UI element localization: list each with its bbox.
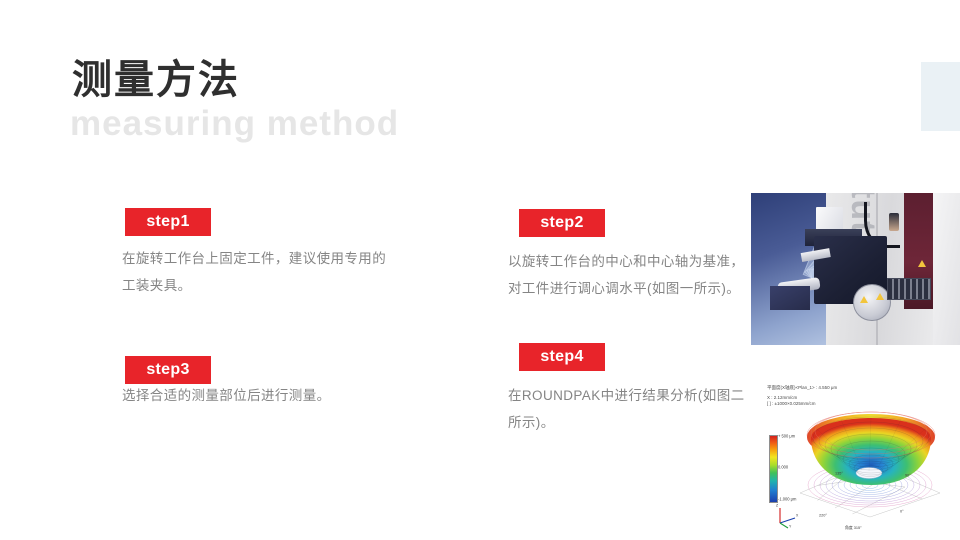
- chart-surface-bowl: [801, 411, 941, 499]
- chart-colorbar: [769, 435, 778, 503]
- surface-chart: 平面度(X轴底)<Plan_1> : 4.550 μm X : 2.12mm/c…: [757, 383, 957, 538]
- chart-axis-label-3: 角度 315°: [845, 524, 862, 530]
- colorbar-mid-label: 0.000: [778, 465, 788, 470]
- step-text-2: 以旋转工作台的中心和中心轴为基准，对工件进行调心调水平(如图一所示)。: [508, 248, 758, 302]
- photo-warning-label-1: [876, 293, 884, 300]
- colorbar-max-label: + 500 μm: [778, 434, 795, 439]
- chart-title: 平面度(X轴底)<Plan_1> : 4.550 μm: [767, 385, 837, 391]
- chart-axis-label-4: 135°: [835, 471, 843, 476]
- photo-warning-label-3: [860, 296, 868, 303]
- triad-label-x: X: [796, 513, 798, 518]
- step-text-3: 选择合适的测量部位后进行测量。: [122, 382, 387, 409]
- photo-connector: [889, 213, 899, 231]
- step-text-4: 在ROUNDPAK中进行结果分析(如图二所示)。: [508, 382, 748, 436]
- chart-axis-label-2: 0°: [900, 509, 904, 514]
- corner-accent-block: [921, 62, 960, 131]
- photo-rail: [887, 278, 931, 300]
- photo-fixture: [770, 286, 810, 310]
- step-badge-4: step4: [519, 343, 605, 371]
- page-title-en: measuring method: [70, 105, 399, 144]
- page-title-cn: 测量方法: [72, 58, 240, 102]
- measuring-instrument-photo: tut: [751, 193, 960, 345]
- colorbar-min-label: -1.000 μm: [778, 497, 796, 502]
- step-badge-2: step2: [519, 209, 605, 237]
- chart-axis-label-5: 90°: [905, 473, 911, 478]
- step-text-1: 在旋转工作台上固定工件，建议使用专用的工装夹具。: [122, 245, 387, 299]
- chart-axis-triad: Z X Y: [775, 505, 801, 529]
- photo-warning-label-2: [918, 260, 926, 267]
- photo-right-column: [933, 193, 960, 345]
- step-badge-3: step3: [125, 356, 211, 384]
- slide-canvas: 测量方法 measuring method step1 在旋转工作台上固定工件，…: [0, 0, 960, 540]
- chart-subtitle-2: [ ] : ±1000×0.025mm/cm: [767, 401, 816, 408]
- triad-label-y: Y: [789, 524, 791, 529]
- step-badge-1: step1: [125, 208, 211, 236]
- chart-axis-label-1: 220°: [819, 513, 827, 518]
- triad-label-z: Z: [776, 503, 778, 508]
